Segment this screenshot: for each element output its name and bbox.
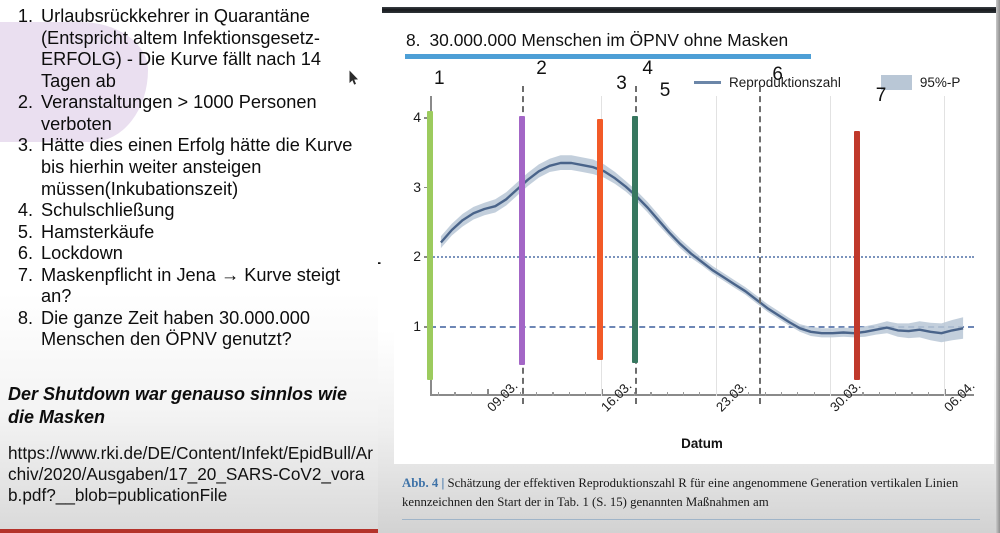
measure-bar-7[interactable] <box>854 131 860 380</box>
measure-label-5: 5 <box>660 80 671 102</box>
figure-caption: Abb. 4 | Schätzung der effektiven Reprod… <box>402 474 1000 511</box>
list-item-number: 4. <box>8 200 41 222</box>
measure-label-7: 7 <box>876 85 887 107</box>
page-title-label: 30.000.000 Menschen im ÖPNV ohne Masken <box>430 30 789 50</box>
y-tick-label: 2 <box>404 248 421 264</box>
measure-label-2: 2 <box>536 58 547 80</box>
list-item-number: 6. <box>8 243 41 265</box>
mouse-cursor-icon <box>349 70 359 86</box>
measure-bar-1[interactable] <box>427 111 433 380</box>
figure-caption-label: Abb. 4 | <box>402 476 448 490</box>
bottom-accent-rule <box>0 529 378 533</box>
list-item: 7. Maskenpflicht in Jena → Kurve steigt … <box>8 265 370 308</box>
list-item-number: 2. <box>8 92 41 114</box>
page-title: 8.30.000.000 Menschen im ÖPNV ohne Maske… <box>406 30 788 51</box>
figure-caption-text: Schätzung der effektiven Reproduktionsza… <box>402 476 958 509</box>
list-item: 8. Die ganze Zeit haben 30.000.000 Mensc… <box>8 308 370 351</box>
measure-label-3: 3 <box>616 73 627 95</box>
list-item-label: Urlaubsrückkehrer in Quarantäne (Entspri… <box>41 6 370 92</box>
list-item-number: 5. <box>8 222 41 244</box>
list-item: 3. Hätte dies einen Erfolg hätte die Kur… <box>8 135 370 200</box>
y-tick-label: 4 <box>404 109 421 125</box>
measure-bar-2[interactable] <box>519 116 525 365</box>
list-item: 6. Lockdown <box>8 243 370 265</box>
slide-screenshot: 1. Urlaubsrückkehrer in Quarantäne (Ents… <box>0 0 1000 533</box>
y-tick-label: 3 <box>404 179 421 195</box>
list-item-label: Veranstaltungen > 1000 Personen verboten <box>41 92 370 135</box>
list-item-label: Hamsterkäufe <box>41 222 370 244</box>
y-tick-label: 1 <box>404 318 421 334</box>
measure-label-6: 6 <box>772 64 783 86</box>
page-title-number: 8. <box>406 30 421 50</box>
figure-container: Reproduktionszahl 95%-P Effektive Reprod… <box>394 64 994 464</box>
legend-line-icon <box>694 81 721 84</box>
numbered-list: 1. Urlaubsrückkehrer in Quarantäne (Ents… <box>8 6 370 351</box>
series-svg <box>430 96 974 396</box>
y-axis-title: Effektive Reproduktionszahl R <box>378 155 381 337</box>
chart-legend: Reproduktionszahl 95%-P <box>694 75 960 90</box>
measure-label-4: 4 <box>642 58 653 80</box>
list-item: 1. Urlaubsrückkehrer in Quarantäne (Ents… <box>8 6 370 92</box>
list-item: 4. Schulschließung <box>8 200 370 222</box>
title-underline <box>405 54 811 59</box>
source-url-text[interactable]: https://www.rki.de/DE/Content/Infekt/Epi… <box>8 443 376 505</box>
legend-label-series: Reproduktionszahl <box>729 75 841 90</box>
measure-label-1: 1 <box>434 68 445 90</box>
legend-label-band: 95%-P <box>920 75 961 90</box>
list-item-number: 1. <box>8 6 41 28</box>
list-item-label: Schulschließung <box>41 200 370 222</box>
panel-right-edge <box>996 0 1000 533</box>
list-item-label: Maskenpflicht in Jena → Kurve steigt an? <box>41 265 370 308</box>
measure-bar-3[interactable] <box>597 119 603 361</box>
x-axis-title: Datum <box>430 436 974 451</box>
list-item: 2. Veranstaltungen > 1000 Personen verbo… <box>8 92 370 135</box>
left-text-panel: 1. Urlaubsrückkehrer in Quarantäne (Ents… <box>0 0 378 533</box>
list-item-number: 3. <box>8 135 41 157</box>
measure-bar-4[interactable] <box>632 116 638 364</box>
list-item-number: 8. <box>8 308 41 330</box>
list-item-label: Hätte dies einen Erfolg hätte die Kurve … <box>41 135 370 200</box>
list-item: 5. Hamsterkäufe <box>8 222 370 244</box>
right-figure-panel: 8.30.000.000 Menschen im ÖPNV ohne Maske… <box>378 0 1000 533</box>
list-item-label: Lockdown <box>41 243 370 265</box>
list-item-label: Die ganze Zeit haben 30.000.000 Menschen… <box>41 308 370 351</box>
plot-area: Effektive Reproduktionszahl R Datum 1234… <box>430 96 974 396</box>
measure-dash-line-6 <box>759 86 761 404</box>
slogan-text: Der Shutdown war genauso sinnlos wie die… <box>8 383 368 428</box>
caption-divider <box>402 519 980 520</box>
top-divider-bar <box>382 7 996 13</box>
list-item-number: 7. <box>8 265 41 287</box>
